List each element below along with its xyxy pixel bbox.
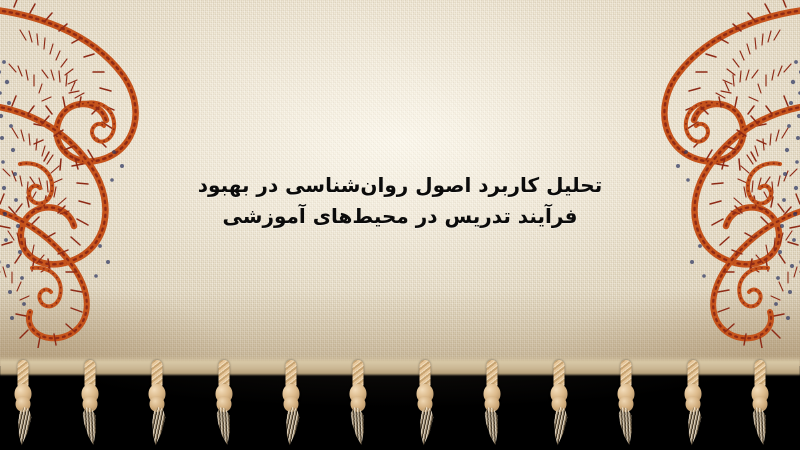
tassel-skirt <box>678 406 708 448</box>
tassel <box>745 360 775 448</box>
tassel <box>209 360 239 448</box>
tassel-fringe <box>0 360 800 450</box>
title-line-1: تحلیل کاربرد اصول روان‌شناسی در بهبود <box>0 170 800 201</box>
slide-title: تحلیل کاربرد اصول روان‌شناسی در بهبود فر… <box>0 170 800 232</box>
tassel <box>477 360 507 448</box>
tassel-skirt <box>74 405 106 449</box>
tassel <box>410 360 440 448</box>
tassel-skirt <box>544 406 574 448</box>
tassel <box>678 360 708 448</box>
tassel-skirt <box>276 406 306 448</box>
tassel <box>8 360 38 448</box>
tassel-skirt <box>208 405 240 449</box>
tassel <box>544 360 574 448</box>
tassel <box>75 360 105 448</box>
tassel-skirt <box>476 405 508 449</box>
title-line-2: فرآیند تدریس در محیط‌های آموزشی <box>0 201 800 232</box>
tassel <box>142 360 172 448</box>
tassel-skirt <box>410 406 440 448</box>
tassel-skirt <box>610 405 642 449</box>
tassel <box>276 360 306 448</box>
tassel <box>343 360 373 448</box>
tassel <box>611 360 641 448</box>
tassel-skirt <box>142 406 172 448</box>
tassel-skirt <box>744 405 776 449</box>
tassel-skirt <box>342 405 374 449</box>
slide-canvas: تحلیل کاربرد اصول روان‌شناسی در بهبود فر… <box>0 0 800 450</box>
tassel-skirt <box>8 406 38 448</box>
